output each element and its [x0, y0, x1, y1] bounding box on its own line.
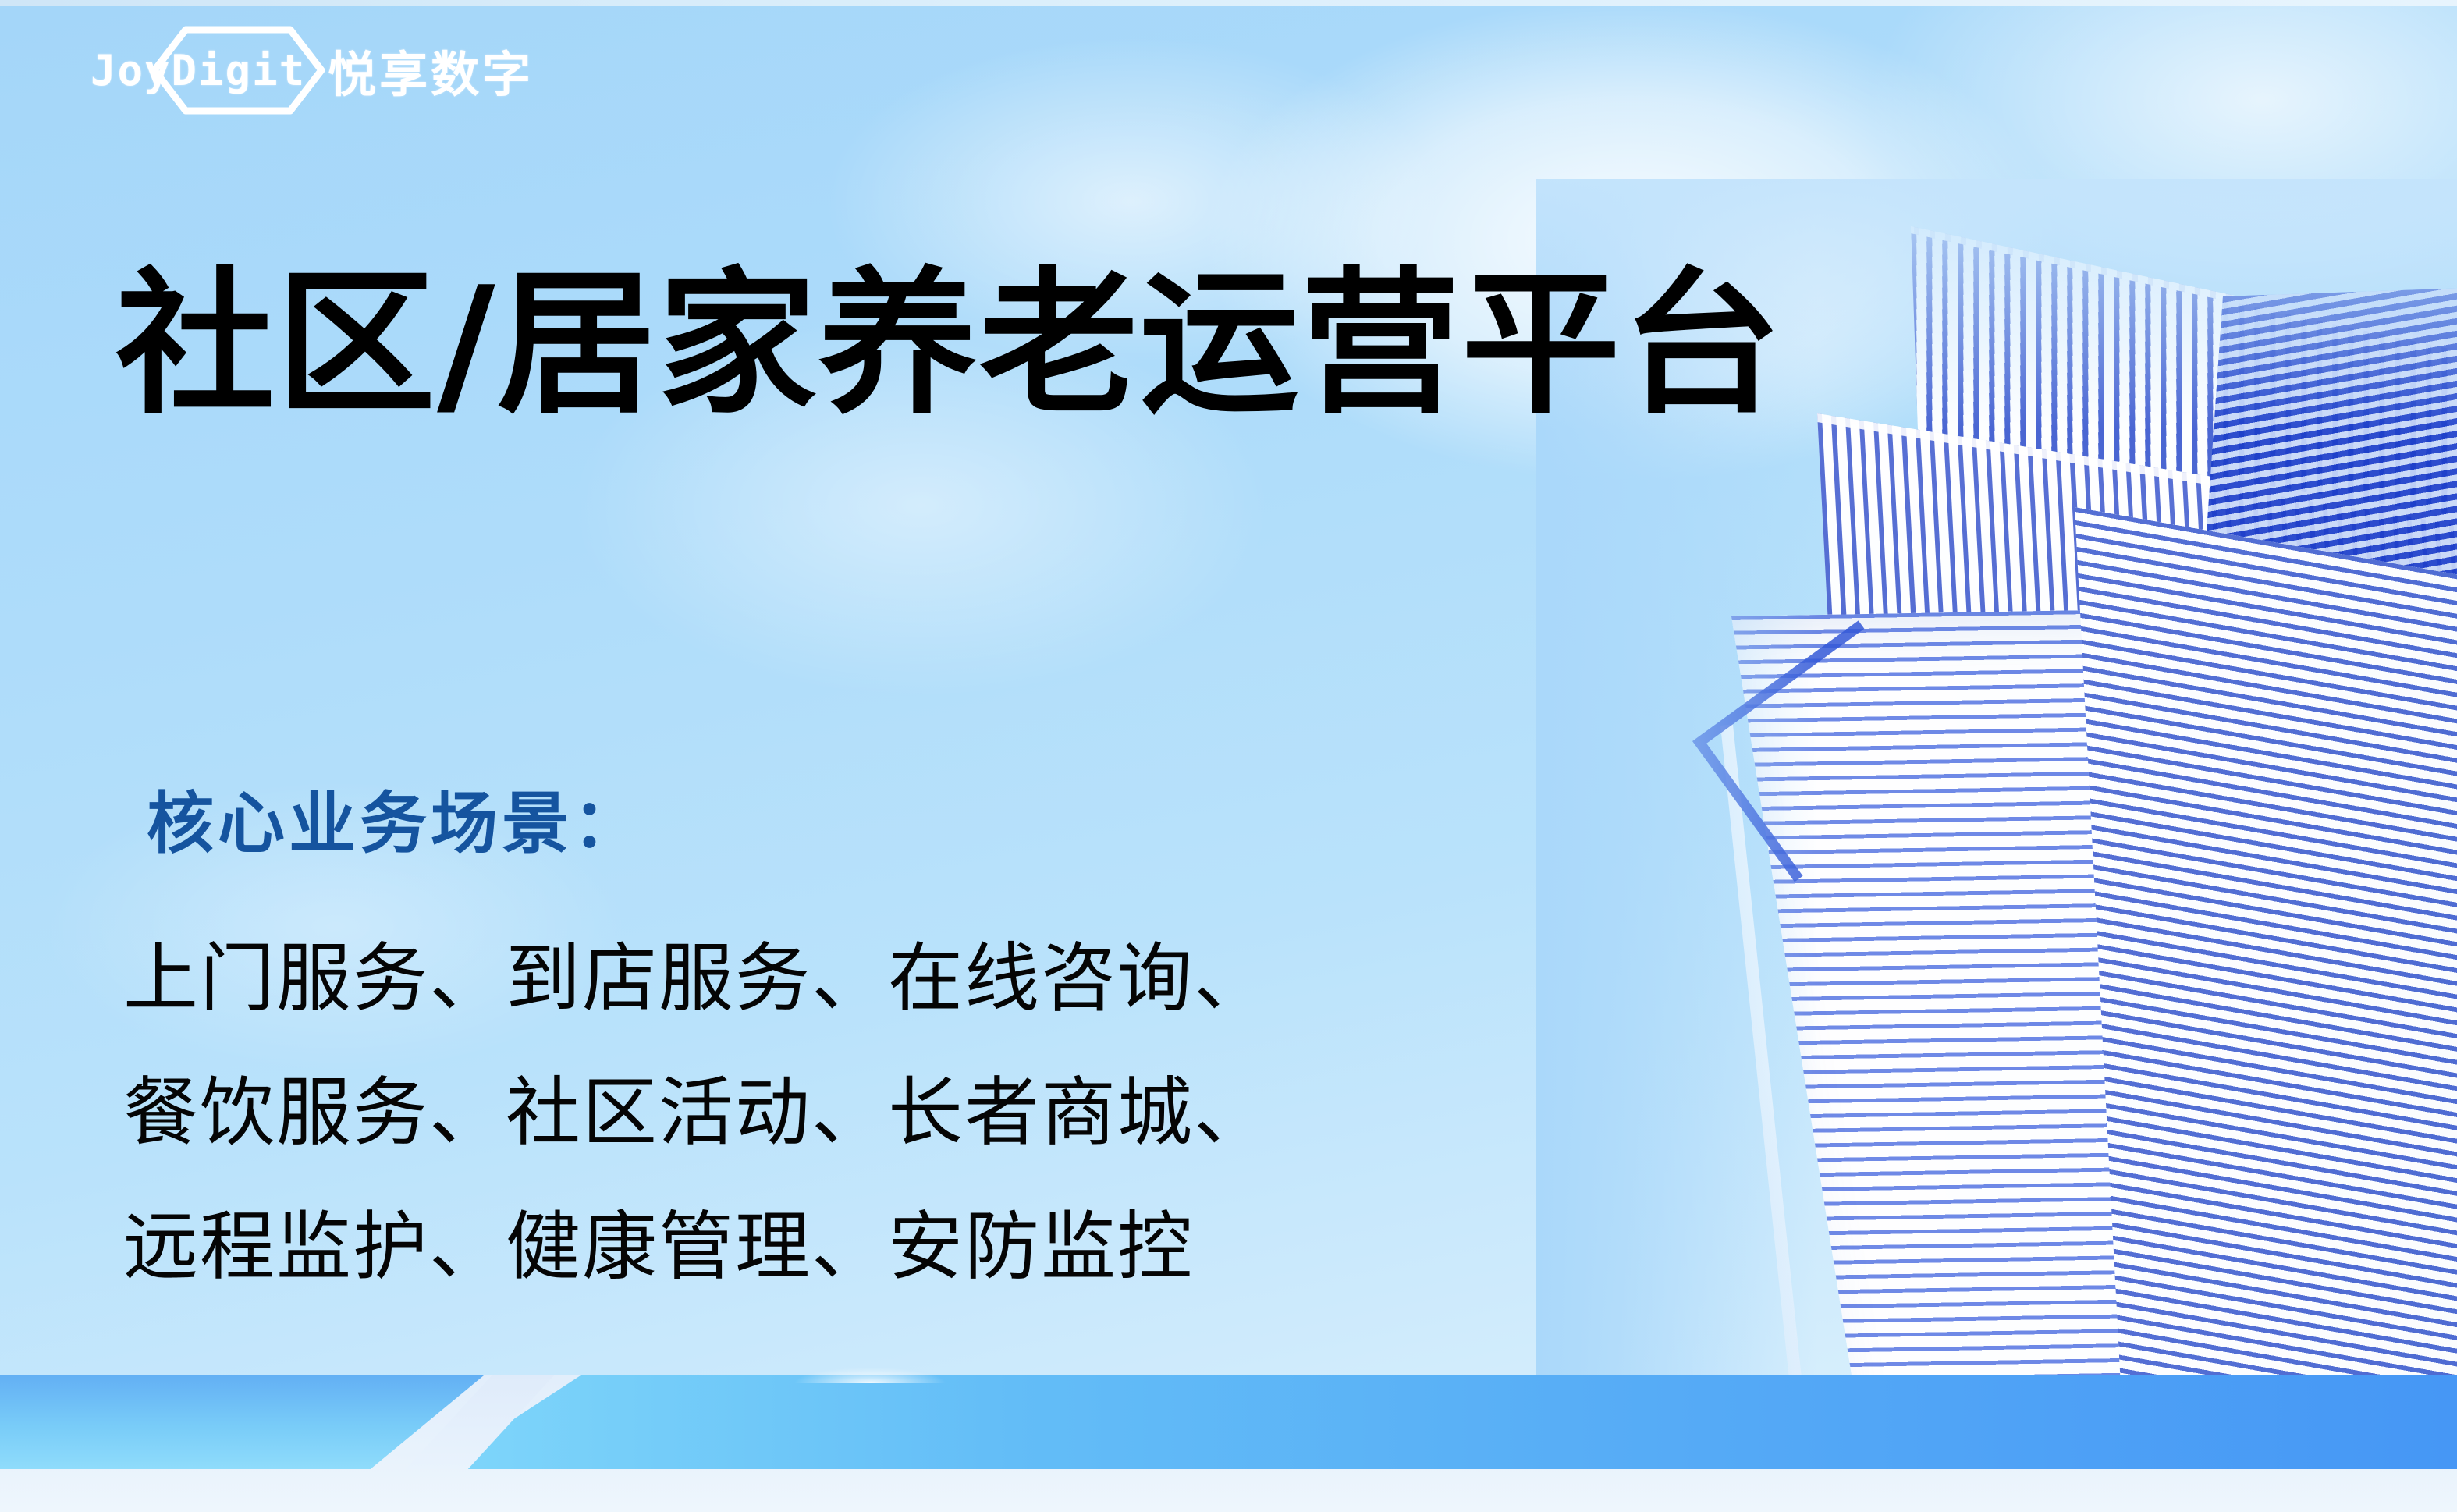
slide-canvas: JoyDigit 悦享数字 社区/居家养老运营平台 核心业务场景： 上门服务、到… [0, 0, 2457, 1512]
page-title: 社区/居家养老运营平台 [115, 257, 1783, 432]
brand-logo[interactable]: JoyDigit 悦享数字 [86, 33, 534, 108]
scenario-list: 上门服务、到店服务、在线咨询、 餐饮服务、社区活动、长者商城、 远程监护、健康管… [123, 911, 1270, 1314]
footer-cloud-wisp [765, 1347, 975, 1383]
scenario-line: 上门服务、到店服务、在线咨询、 [123, 911, 1270, 1045]
footer-band-right [437, 1375, 2457, 1469]
logo-latin-text: JoyDigit [86, 46, 306, 95]
scenario-line: 餐饮服务、社区活动、长者商城、 [123, 1045, 1270, 1180]
logo-chinese-text: 悦享数字 [328, 35, 534, 105]
scenario-line: 远程监护、健康管理、安防监控 [123, 1180, 1270, 1314]
section-heading: 核心业务场景： [147, 768, 644, 866]
footer-decoration [0, 1375, 2457, 1512]
